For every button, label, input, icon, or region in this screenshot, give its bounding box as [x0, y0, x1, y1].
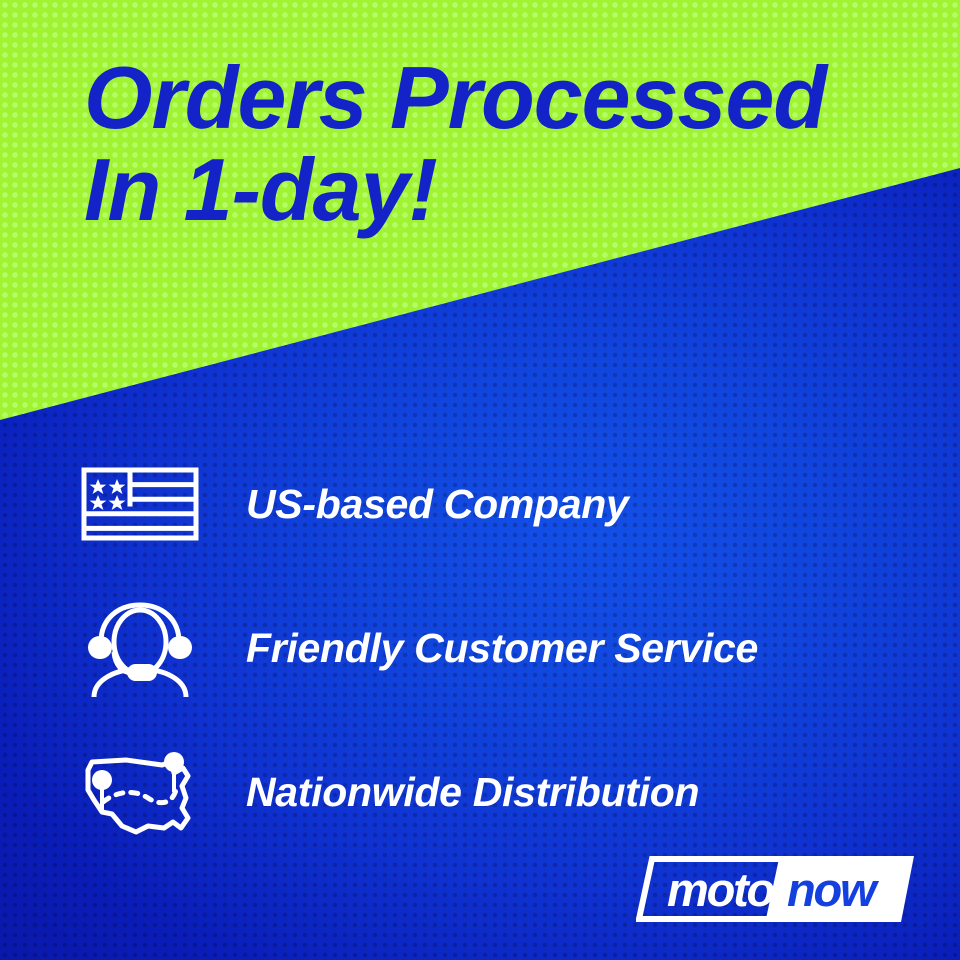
us-flag-icon [78, 467, 202, 541]
promo-banner: Orders Processed In 1-day! [0, 0, 960, 960]
us-map-pins-icon [78, 746, 202, 838]
feature-label: US-based Company [246, 481, 629, 528]
feature-list: US-based Company [78, 432, 898, 864]
feature-label: Friendly Customer Service [246, 625, 758, 672]
feature-label: Nationwide Distribution [246, 769, 699, 816]
headset-support-icon [78, 598, 202, 698]
logo-text: moto now [636, 856, 914, 922]
logo-now-text: now [787, 857, 874, 923]
motonow-logo[interactable]: moto now [636, 856, 914, 922]
headline: Orders Processed In 1-day! [84, 52, 924, 236]
logo-moto-text: moto [667, 857, 773, 923]
feature-row: US-based Company [78, 432, 898, 576]
feature-row: Friendly Customer Service [78, 576, 898, 720]
feature-row: Nationwide Distribution [78, 720, 898, 864]
